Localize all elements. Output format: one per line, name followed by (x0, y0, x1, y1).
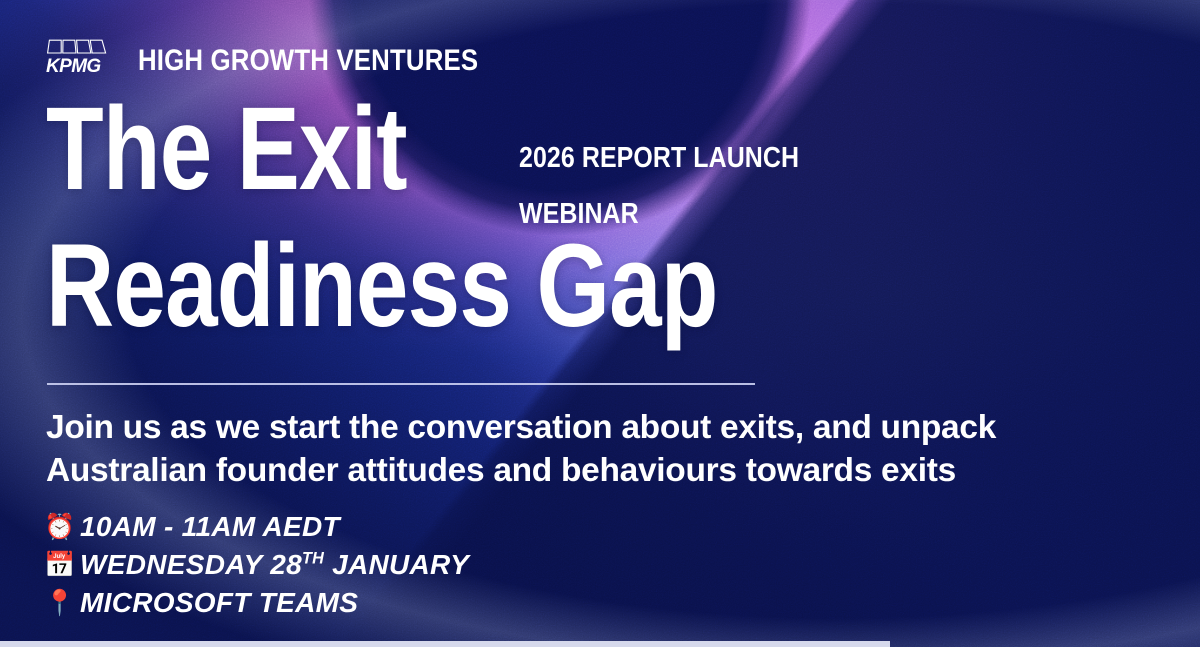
detail-date-value: WEDNESDAY 28 (80, 549, 302, 580)
detail-row-location: 📍 MICROSOFT TEAMS (44, 584, 469, 622)
bottom-edge-bar (0, 641, 890, 647)
headline-line-2: Readiness Gap (46, 229, 926, 345)
headline-block: The Exit 2026 REPORT LAUNCH WEBINAR Read… (46, 92, 1146, 345)
high-growth-ventures-wordmark: HIGH GROWTH VENTURES (138, 46, 478, 78)
event-details-list: ⏰ 10AM - 11AM AEDT 📅 WEDNESDAY 28TH JANU… (44, 508, 469, 622)
location-pin-icon: 📍 (44, 591, 76, 616)
banner-content: KPMG HIGH GROWTH VENTURES The Exit 2026 … (0, 0, 1200, 647)
detail-row-time: ⏰ 10AM - 11AM AEDT (44, 508, 469, 546)
description-line-1: Join us as we start the conversation abo… (46, 407, 1156, 450)
detail-date-text: WEDNESDAY 28TH JANUARY (80, 549, 469, 581)
detail-date-month: JANUARY (324, 549, 469, 580)
detail-location-text: MICROSOFT TEAMS (80, 587, 358, 619)
webinar-promo-banner: KPMG HIGH GROWTH VENTURES The Exit 2026 … (0, 0, 1200, 647)
description-line-2: Australian founder attitudes and behavio… (46, 450, 1156, 493)
brand-lockup: KPMG HIGH GROWTH VENTURES (46, 38, 534, 78)
kicker-line-1: 2026 REPORT LAUNCH (519, 144, 799, 173)
kicker-block: 2026 REPORT LAUNCH WEBINAR (519, 92, 799, 229)
detail-location-value: MICROSOFT TEAMS (80, 587, 358, 618)
detail-time-value: 10AM - 11AM AEDT (80, 511, 340, 542)
horizontal-divider (47, 383, 755, 385)
detail-date-ordinal: TH (302, 550, 324, 568)
svg-text:KPMG: KPMG (46, 56, 101, 77)
kpmg-logo: KPMG (46, 38, 118, 78)
detail-time-text: 10AM - 11AM AEDT (80, 511, 340, 543)
headline-row-primary: The Exit 2026 REPORT LAUNCH WEBINAR (46, 92, 1146, 229)
headline-line-1: The Exit (46, 92, 407, 208)
detail-row-date: 📅 WEDNESDAY 28TH JANUARY (44, 546, 469, 584)
alarm-clock-icon: ⏰ (44, 515, 76, 540)
calendar-icon: 📅 (44, 553, 76, 578)
description-text: Join us as we start the conversation abo… (46, 407, 1156, 493)
